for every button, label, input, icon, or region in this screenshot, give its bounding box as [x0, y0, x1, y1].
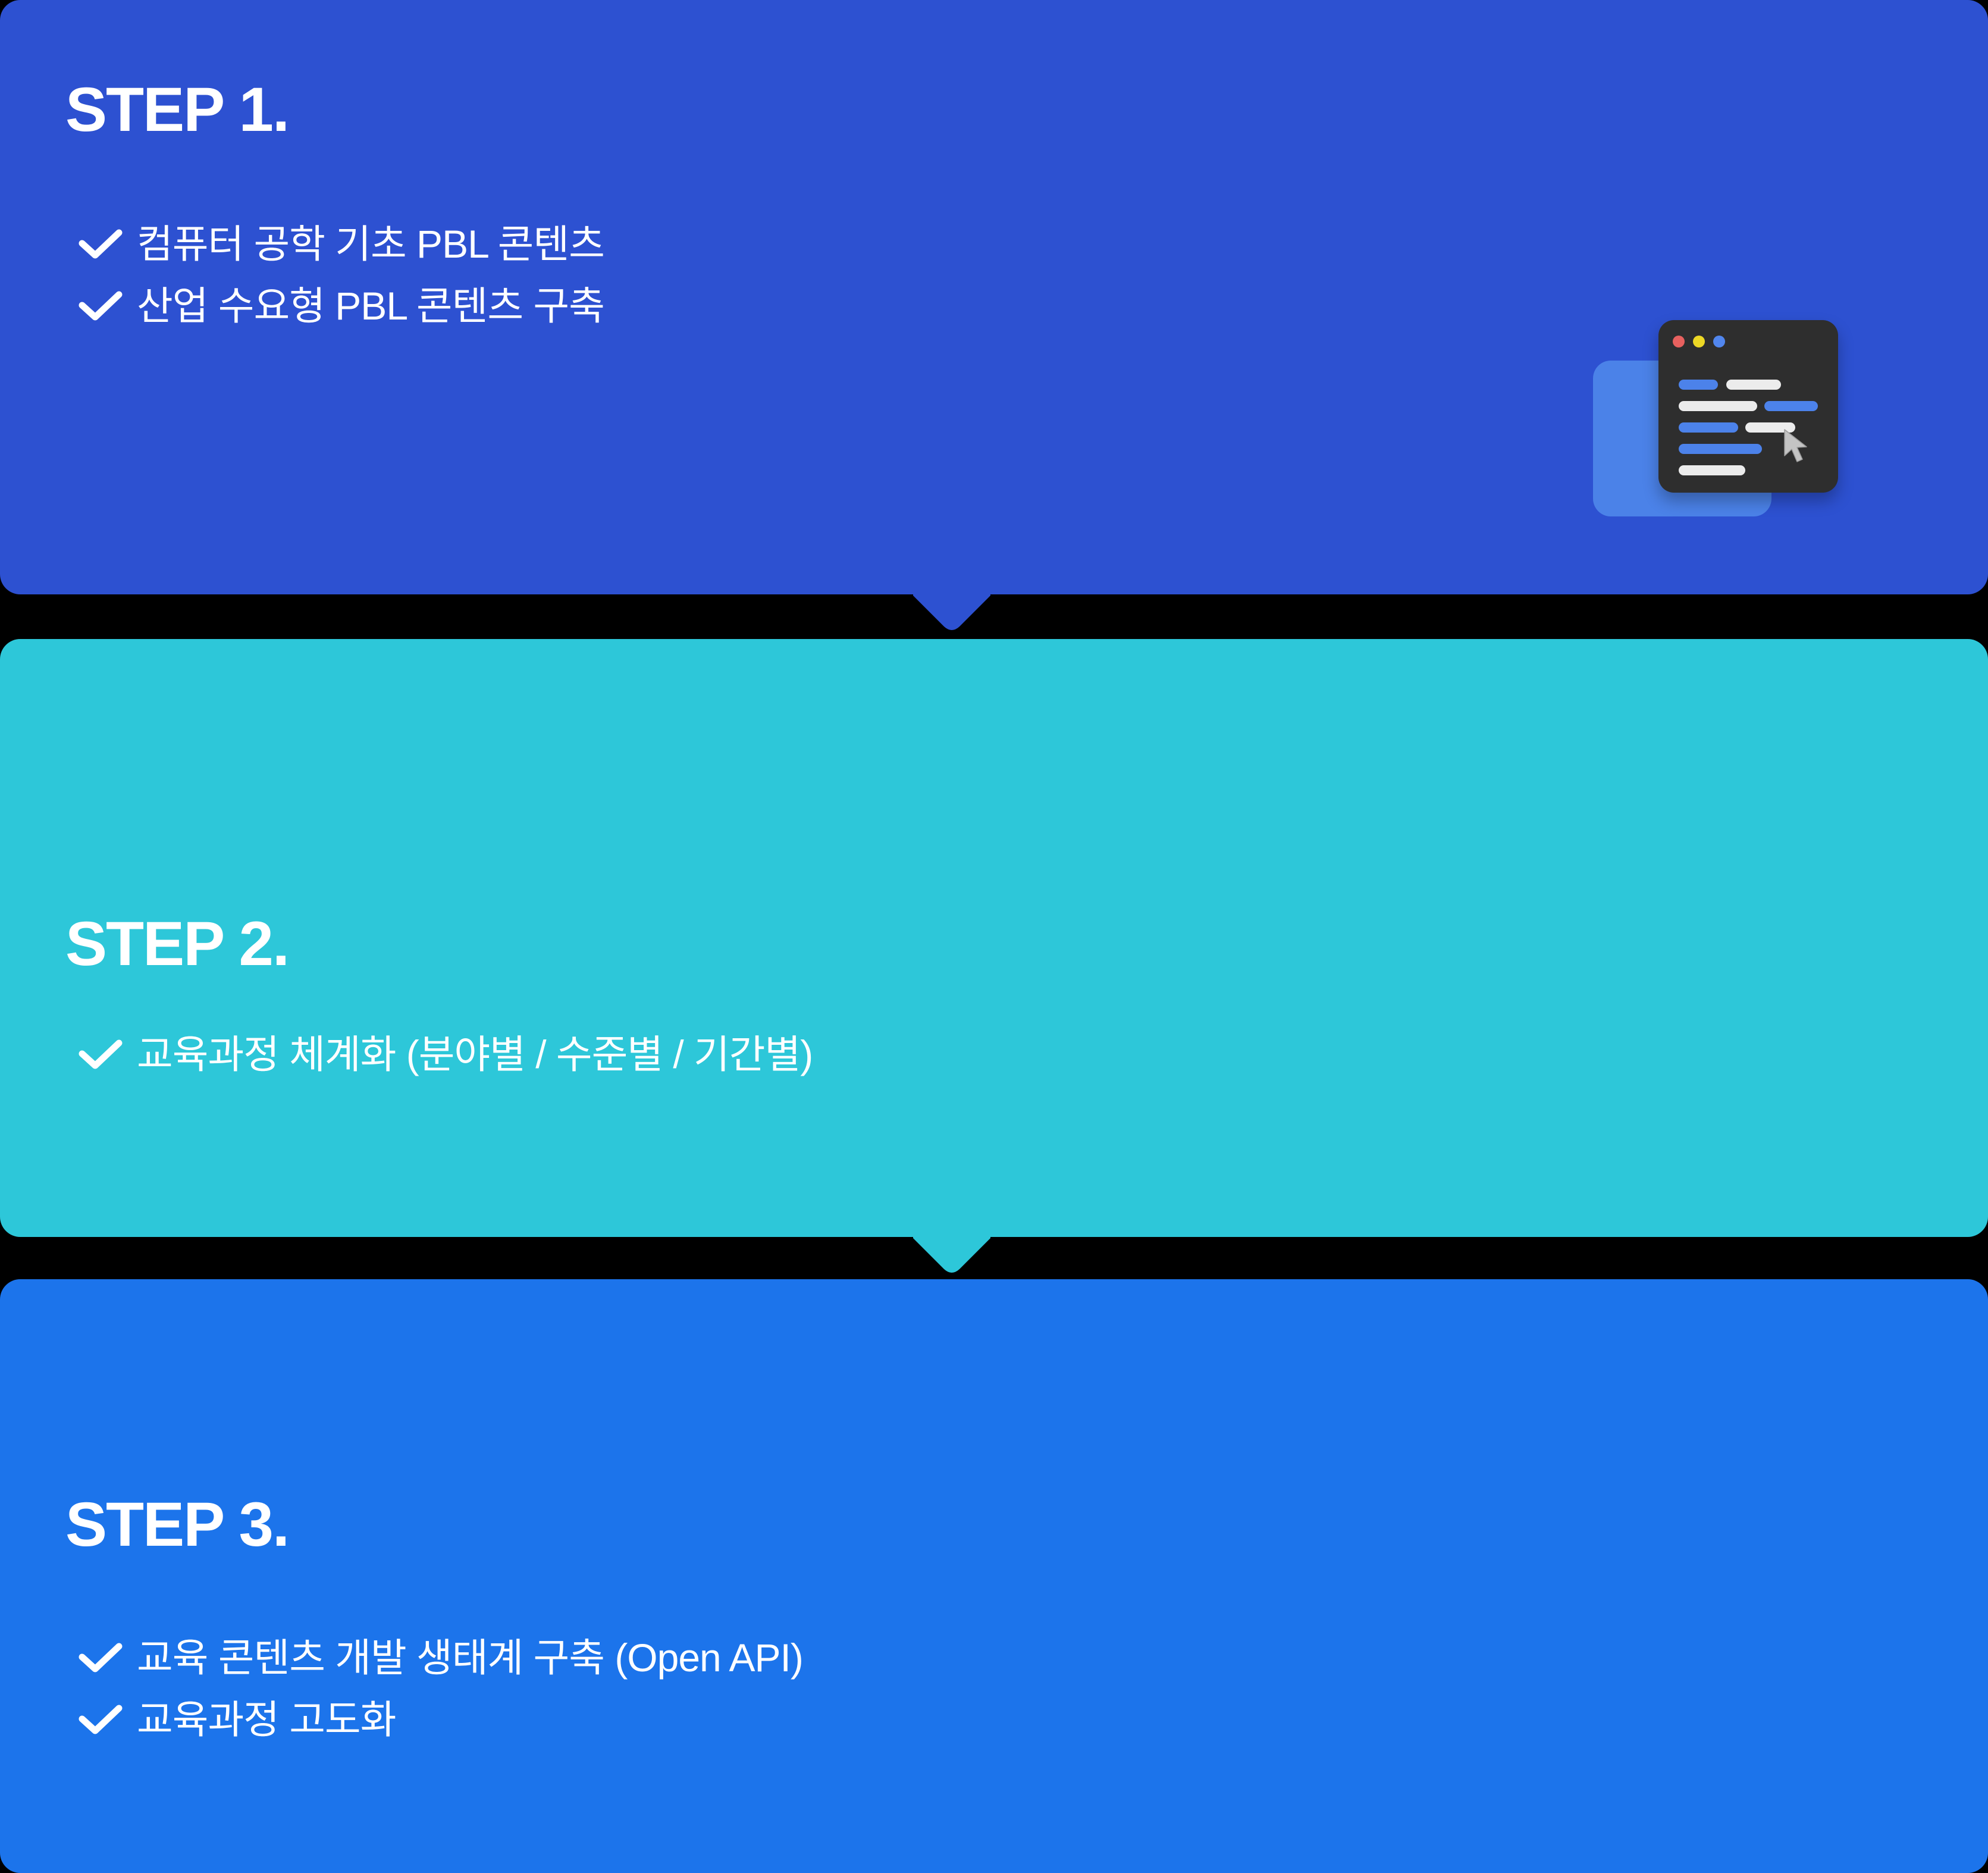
connector-arrow-2-to-3 — [913, 1237, 990, 1274]
code-line — [1679, 380, 1718, 390]
steps-board: STEP 1. 컴퓨터 공학 기초 PBL 콘텐츠 — [0, 0, 1988, 1873]
code-line — [1726, 380, 1781, 390]
list-item: 컴퓨터 공학 기초 PBL 콘텐츠 — [77, 221, 604, 268]
step-panel-3-background: STEP 3. 교육 콘텐츠 개발 생태계 구축 (Open API) — [0, 1279, 1988, 1873]
step-2-title: STEP 2. — [65, 913, 289, 975]
list-item: 교육과정 체계화 (분야별 / 수준별 / 기간별) — [77, 1032, 813, 1078]
code-line — [1679, 422, 1738, 433]
step-3-title: STEP 3. — [65, 1493, 289, 1556]
code-window-icon — [1593, 320, 1838, 516]
list-item-label: 교육과정 고도화 — [137, 1697, 396, 1743]
traffic-light-blue-icon — [1713, 336, 1725, 347]
list-item-label: 산업 수요형 PBL 콘텐츠 구축 — [137, 283, 604, 330]
check-icon — [77, 289, 124, 324]
list-item: 교육 콘텐츠 개발 생태계 구축 (Open API) — [77, 1635, 803, 1681]
list-item-label: 컴퓨터 공학 기초 PBL 콘텐츠 — [137, 221, 604, 268]
traffic-light-red-icon — [1673, 336, 1685, 347]
code-line — [1679, 444, 1762, 454]
step-1-bullet-list: 컴퓨터 공학 기초 PBL 콘텐츠 산업 수요형 PBL 콘텐츠 구축 — [77, 221, 604, 345]
check-icon — [77, 227, 124, 262]
traffic-light-yellow-icon — [1693, 336, 1705, 347]
step-panel-2: STEP 2. 교육과정 체계화 (분야별 / 수준별 / 기간별) — [0, 639, 1988, 1237]
list-item: 산업 수요형 PBL 콘텐츠 구축 — [77, 283, 604, 330]
step-panel-2-background: STEP 2. 교육과정 체계화 (분야별 / 수준별 / 기간별) — [0, 639, 1988, 1237]
step-panel-1: STEP 1. 컴퓨터 공학 기초 PBL 콘텐츠 — [0, 0, 1988, 594]
step-3-bullet-list: 교육 콘텐츠 개발 생태계 구축 (Open API) 교육과정 고도화 — [77, 1635, 803, 1759]
check-icon — [77, 1037, 124, 1073]
list-item: 교육과정 고도화 — [77, 1697, 803, 1743]
mouse-cursor-icon — [1782, 428, 1817, 465]
connector-arrow-1-to-2 — [913, 594, 990, 631]
check-icon — [77, 1702, 124, 1738]
code-line — [1679, 401, 1757, 411]
code-line — [1764, 401, 1818, 411]
list-item-label: 교육 콘텐츠 개발 생태계 구축 (Open API) — [137, 1635, 803, 1681]
step-panel-1-background: STEP 1. 컴퓨터 공학 기초 PBL 콘텐츠 — [0, 0, 1988, 594]
step-1-title: STEP 1. — [65, 79, 289, 141]
code-line — [1679, 465, 1745, 475]
step-panel-3: STEP 3. 교육 콘텐츠 개발 생태계 구축 (Open API) — [0, 1279, 1988, 1873]
list-item-label: 교육과정 체계화 (분야별 / 수준별 / 기간별) — [137, 1032, 813, 1078]
code-window-frame — [1658, 320, 1838, 493]
step-2-bullet-list: 교육과정 체계화 (분야별 / 수준별 / 기간별) — [77, 1032, 813, 1094]
check-icon — [77, 1640, 124, 1676]
